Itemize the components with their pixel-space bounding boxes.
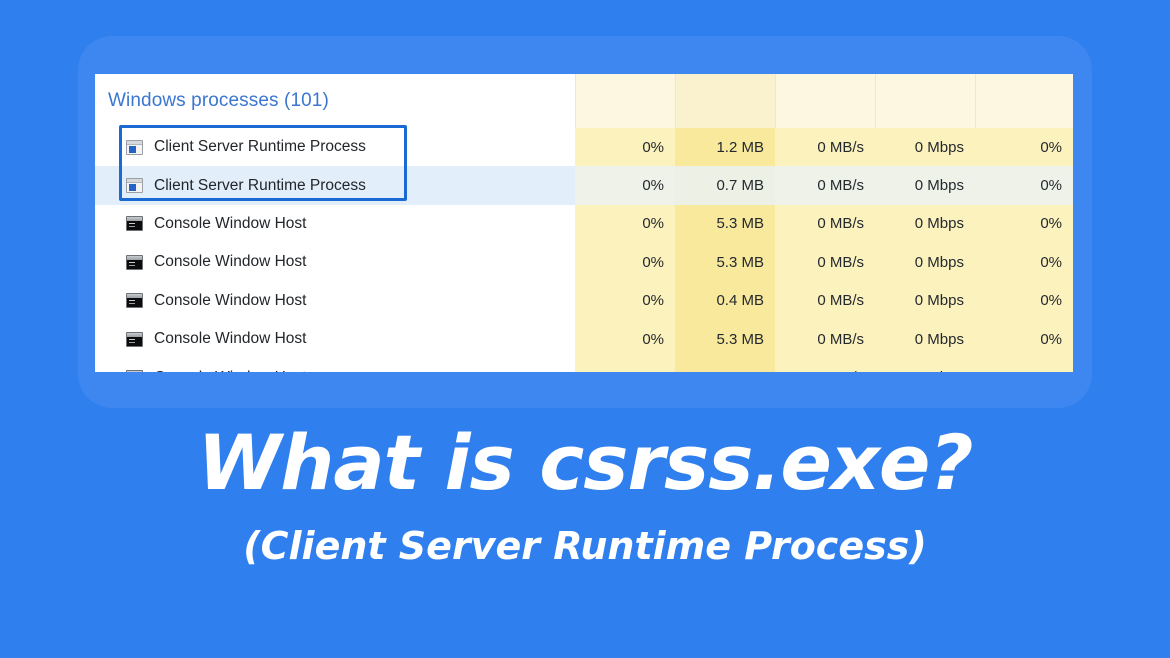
conhost-console-icon <box>126 255 143 270</box>
process-group-header[interactable]: Windows processes (101) <box>95 74 575 128</box>
cell-cpu: 0% <box>575 320 675 358</box>
cell-network: 0 Mbps <box>875 320 975 358</box>
conhost-console-icon <box>126 293 143 308</box>
process-name-label: Client Server Runtime Process <box>154 177 366 195</box>
cell-network: 0 Mbps <box>875 128 975 166</box>
cell-gpu: 0% <box>975 282 1073 320</box>
cell-memory: 5.3 MB <box>675 243 775 281</box>
table-row[interactable]: Console Window Host0%5.3 MB0 MB/s0 Mbps0… <box>95 205 1073 243</box>
page-subtitle: (Client Server Runtime Process) <box>0 517 1170 575</box>
cell-gpu: 0% <box>975 205 1073 243</box>
process-name-label: Console Window Host <box>154 330 306 348</box>
cell-network: 0 Mbps <box>875 358 975 372</box>
process-name-cell[interactable]: Console Window Host <box>95 243 575 281</box>
cell-disk: 0 MB/s <box>775 320 875 358</box>
caption-block: What is csrss.exe? (Client Server Runtim… <box>0 415 1170 575</box>
process-name-cell[interactable]: Console Window Host <box>95 358 575 372</box>
table-row[interactable]: Console Window Host0%5.3 MB0 MB/s0 Mbps0… <box>95 243 1073 281</box>
cell-disk: 0 MB/s <box>775 358 875 372</box>
cell-disk: 0 MB/s <box>775 282 875 320</box>
cell-memory: 5.3 MB <box>675 320 775 358</box>
cell-disk: 0 MB/s <box>775 205 875 243</box>
process-list: Client Server Runtime Process0%1.2 MB0 M… <box>95 128 1073 372</box>
table-row[interactable]: Console Window Host0%5.3 MB0 MB/s0 Mbps0… <box>95 320 1073 358</box>
cell-memory: 5.3 MB <box>675 205 775 243</box>
cell-gpu: 0% <box>975 243 1073 281</box>
cell-disk: 0 MB/s <box>775 243 875 281</box>
csrss-window-icon <box>126 140 143 155</box>
conhost-console-icon <box>126 332 143 347</box>
cell-memory: 1.2 MB <box>675 128 775 166</box>
process-name-label: Console Window Host <box>154 369 306 372</box>
process-name-label: Client Server Runtime Process <box>154 138 366 156</box>
cell-cpu: 0% <box>575 282 675 320</box>
table-row[interactable]: Client Server Runtime Process0%1.2 MB0 M… <box>95 128 1073 166</box>
process-name-cell[interactable]: Client Server Runtime Process <box>95 128 575 166</box>
cell-gpu: 0% <box>975 166 1073 204</box>
cell-memory: 0.4 MB <box>675 282 775 320</box>
conhost-console-icon <box>126 216 143 231</box>
cell-network: 0 Mbps <box>875 243 975 281</box>
cell-cpu: 0% <box>575 243 675 281</box>
cell-network: 0 Mbps <box>875 205 975 243</box>
cell-cpu: 0% <box>575 205 675 243</box>
process-name-label: Console Window Host <box>154 215 306 233</box>
cell-cpu: 0% <box>575 128 675 166</box>
cell-memory: 5.3 MB <box>675 358 775 372</box>
cell-disk: 0 MB/s <box>775 166 875 204</box>
cell-disk: 0 MB/s <box>775 128 875 166</box>
cell-gpu: 0% <box>975 358 1073 372</box>
conhost-console-icon <box>126 370 143 372</box>
process-group-title: Windows processes (101) <box>108 90 329 112</box>
process-name-label: Console Window Host <box>154 253 306 271</box>
csrss-window-icon <box>126 178 143 193</box>
process-name-cell[interactable]: Console Window Host <box>95 282 575 320</box>
table-row[interactable]: Console Window Host0%5.3 MB0 MB/s0 Mbps0… <box>95 358 1073 372</box>
table-row[interactable]: Console Window Host0%0.4 MB0 MB/s0 Mbps0… <box>95 282 1073 320</box>
table-row[interactable]: Client Server Runtime Process0%0.7 MB0 M… <box>95 166 1073 204</box>
cell-cpu: 0% <box>575 166 675 204</box>
cell-gpu: 0% <box>975 128 1073 166</box>
process-name-cell[interactable]: Console Window Host <box>95 320 575 358</box>
cell-network: 0 Mbps <box>875 282 975 320</box>
cell-memory: 0.7 MB <box>675 166 775 204</box>
task-manager-screenshot-card: Windows processes (101) Client Server Ru… <box>95 74 1073 372</box>
process-name-label: Console Window Host <box>154 292 306 310</box>
cell-gpu: 0% <box>975 320 1073 358</box>
process-name-cell[interactable]: Console Window Host <box>95 205 575 243</box>
cell-network: 0 Mbps <box>875 166 975 204</box>
page-title: What is csrss.exe? <box>0 415 1170 511</box>
cell-cpu: 0% <box>575 358 675 372</box>
process-name-cell[interactable]: Client Server Runtime Process <box>95 166 575 204</box>
